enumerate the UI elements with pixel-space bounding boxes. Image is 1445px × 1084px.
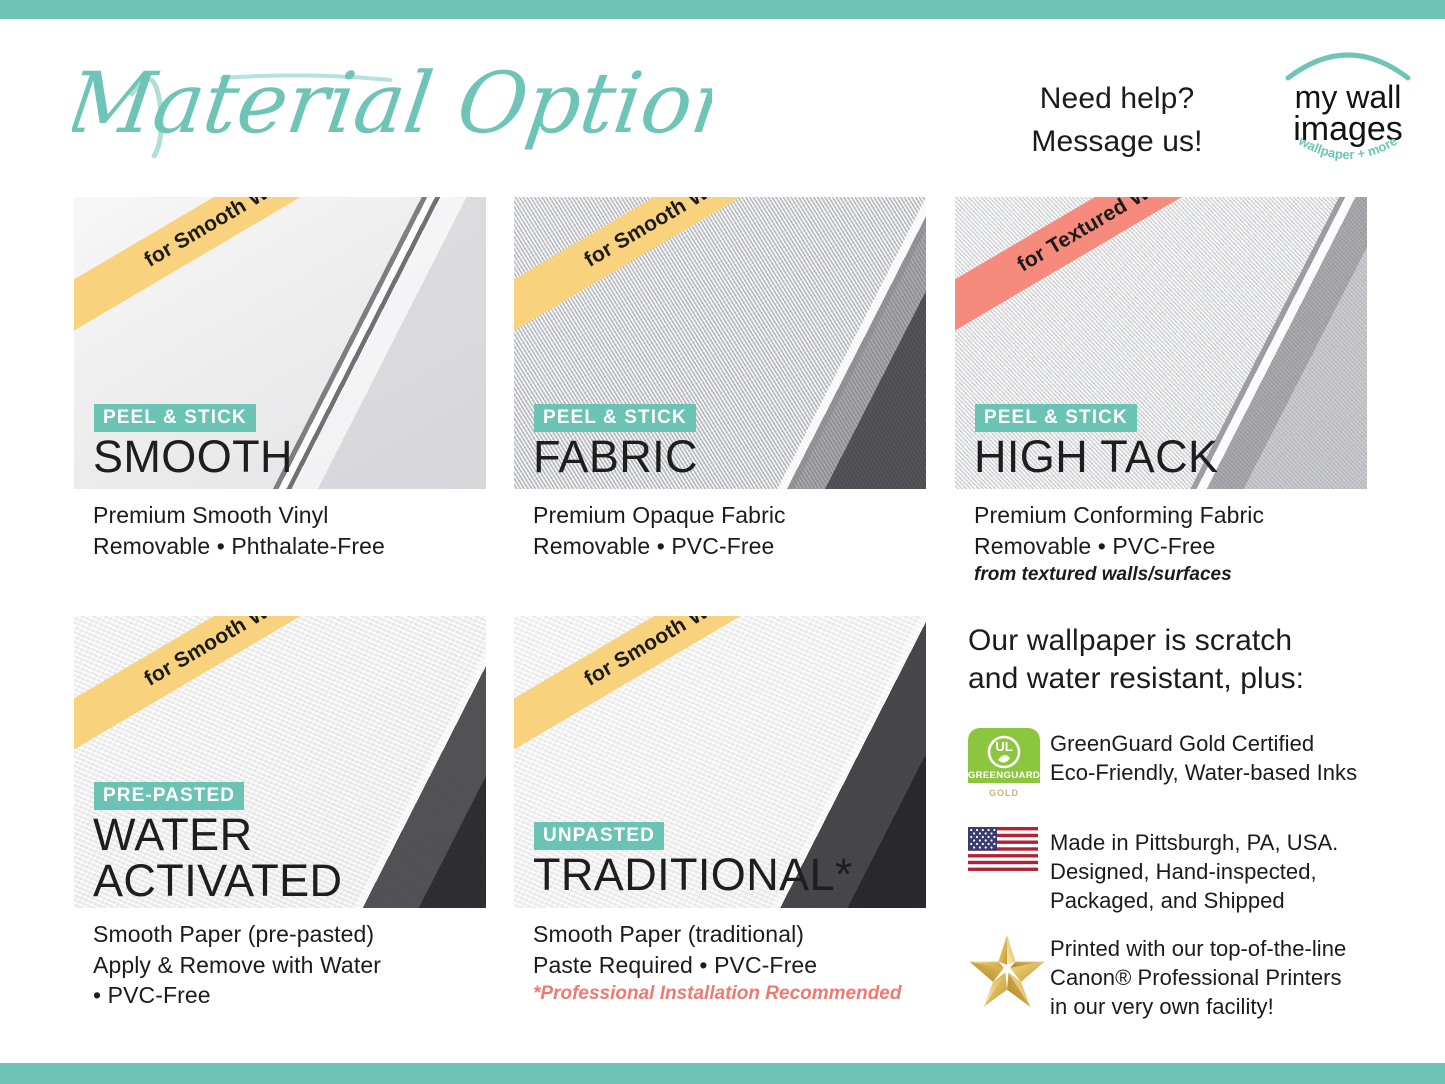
- material-name: SMOOTH: [93, 434, 293, 480]
- features-heading: Our wallpaper is scratch and water resis…: [968, 622, 1388, 699]
- feature-text-greenguard: GreenGuard Gold Certified Eco-Friendly, …: [1050, 728, 1357, 800]
- caption-line-3: • PVC-Free: [93, 980, 381, 1011]
- bottom-teal-bar: [0, 1063, 1445, 1084]
- svg-text:UL: UL: [995, 739, 1012, 754]
- caption-note: *Professional Installation Recommended: [533, 981, 901, 1006]
- material-caption: Smooth Paper (traditional) Paste Require…: [533, 919, 901, 1006]
- status-badge: PEEL & STICK: [975, 404, 1137, 432]
- material-caption: Premium Conforming Fabric Removable • PV…: [974, 500, 1264, 587]
- material-card-high-tack[interactable]: for Textured Walls PEEL & STICK HIGH TAC…: [955, 197, 1367, 489]
- feature-line-1: Made in Pittsburgh, PA, USA.: [1050, 828, 1338, 857]
- feature-line-2: Canon® Professional Printers: [1050, 963, 1346, 992]
- caption-line-2: Apply & Remove with Water: [93, 950, 381, 981]
- status-badge: PRE-PASTED: [94, 782, 244, 810]
- material-name: HIGH TACK: [974, 434, 1218, 480]
- feature-line-1: GreenGuard Gold Certified: [1050, 729, 1357, 758]
- logo-arc-icon: [1288, 55, 1408, 78]
- feature-item-greenguard: UL GREENGUARD GOLD GreenGuard Gold Certi…: [968, 728, 1388, 800]
- status-badge: UNPASTED: [534, 822, 664, 850]
- material-photo-smooth: for Smooth Walls PEEL & STICK SMOOTH: [74, 197, 486, 489]
- caption-line-2: Paste Required • PVC-Free: [533, 950, 901, 981]
- features-heading-line-1: Our wallpaper is scratch: [968, 622, 1388, 660]
- top-teal-bar: [0, 0, 1445, 19]
- caption-line-2: Removable • PVC-Free: [533, 531, 786, 562]
- help-line-2: Message us!: [1012, 121, 1222, 164]
- features-heading-line-2: and water resistant, plus:: [968, 660, 1388, 698]
- caption-line-1: Smooth Paper (traditional): [533, 919, 901, 950]
- caption-line-2: Removable • PVC-Free: [974, 531, 1264, 562]
- page-title-text: Material Options: [72, 54, 712, 152]
- caption-line-1: Premium Smooth Vinyl: [93, 500, 385, 531]
- caption-line-1: Premium Conforming Fabric: [974, 500, 1264, 531]
- material-caption: Smooth Paper (pre-pasted) Apply & Remove…: [93, 919, 381, 1011]
- material-name: FABRIC: [533, 434, 698, 480]
- material-name: WATER ACTIVATED: [93, 812, 342, 904]
- status-badge: PEEL & STICK: [534, 404, 696, 432]
- greenguard-gold-badge-icon: UL GREENGUARD GOLD: [968, 728, 1050, 800]
- feature-line-1: Printed with our top-of-the-line: [1050, 934, 1346, 963]
- svg-text:GREENGUARD: GREENGUARD: [968, 770, 1040, 781]
- feature-item-made-in-usa: Made in Pittsburgh, PA, USA. Designed, H…: [968, 827, 1388, 915]
- help-line-1: Need help?: [1012, 78, 1222, 121]
- help-message-block: Need help? Message us!: [1012, 78, 1222, 163]
- material-card-traditional[interactable]: for Smooth Walls UNPASTED TRADITIONAL* S…: [514, 616, 926, 908]
- page-title: Material Options: [72, 48, 712, 158]
- material-card-water-activated[interactable]: for Smooth Walls PRE-PASTED WATER ACTIVA…: [74, 616, 486, 908]
- material-options-infographic: Material Options Need help? Message us! …: [0, 0, 1445, 1084]
- feature-text-canon-printers: Printed with our top-of-the-line Canon® …: [1050, 933, 1346, 1021]
- material-photo-fabric: for Smooth Walls PEEL & STICK FABRIC: [514, 197, 926, 489]
- brand-logo[interactable]: my wall images wallpaper + more: [1272, 38, 1424, 172]
- material-name: TRADITIONAL*: [533, 852, 853, 898]
- material-caption: Premium Opaque Fabric Removable • PVC-Fr…: [533, 500, 786, 561]
- feature-line-2: Eco-Friendly, Water-based Inks: [1050, 758, 1357, 787]
- material-photo-traditional: for Smooth Walls UNPASTED TRADITIONAL*: [514, 616, 926, 908]
- feature-line-3: Packaged, and Shipped: [1050, 886, 1338, 915]
- caption-line-1: Premium Opaque Fabric: [533, 500, 786, 531]
- caption-line-1: Smooth Paper (pre-pasted): [93, 919, 381, 950]
- material-photo-water-activated: for Smooth Walls PRE-PASTED WATER ACTIVA…: [74, 616, 486, 908]
- caption-line-2: Removable • Phthalate-Free: [93, 531, 385, 562]
- feature-line-2: Designed, Hand-inspected,: [1050, 857, 1338, 886]
- feature-text-made-in-usa: Made in Pittsburgh, PA, USA. Designed, H…: [1050, 827, 1338, 915]
- svg-text:GOLD: GOLD: [989, 788, 1019, 798]
- feature-line-3: in our very own facility!: [1050, 992, 1346, 1021]
- material-photo-high-tack: for Textured Walls PEEL & STICK HIGH TAC…: [955, 197, 1367, 489]
- caption-note: from textured walls/surfaces: [974, 562, 1264, 587]
- gold-star-icon: [968, 933, 1050, 1021]
- material-card-fabric[interactable]: for Smooth Walls PEEL & STICK FABRIC Pre…: [514, 197, 926, 489]
- status-badge: PEEL & STICK: [94, 404, 256, 432]
- material-card-smooth[interactable]: for Smooth Walls PEEL & STICK SMOOTH Pre…: [74, 197, 486, 489]
- feature-item-canon-printers: Printed with our top-of-the-line Canon® …: [968, 933, 1388, 1021]
- us-flag-icon: [968, 827, 1050, 915]
- material-caption: Premium Smooth Vinyl Removable • Phthala…: [93, 500, 385, 561]
